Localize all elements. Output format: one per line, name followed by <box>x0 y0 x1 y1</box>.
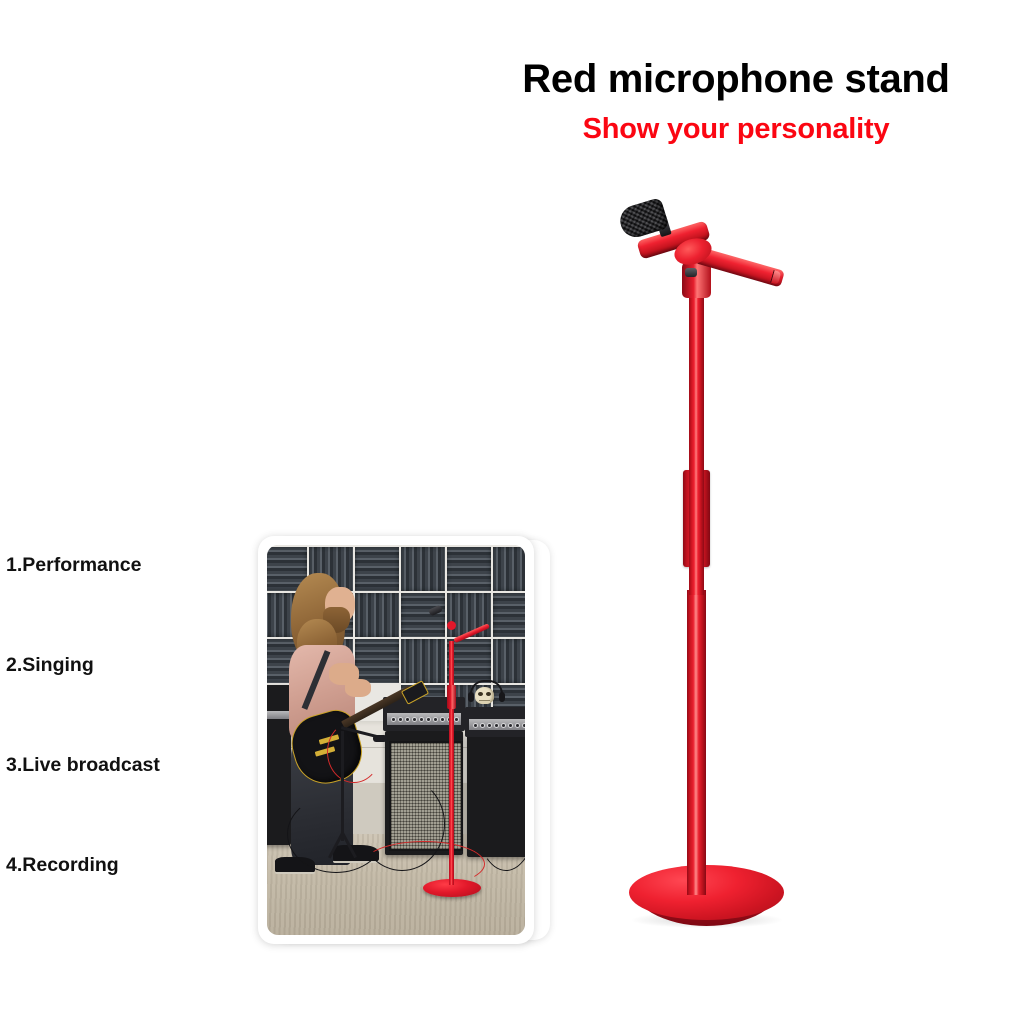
swivel-knob <box>685 268 697 277</box>
amplifier-knob <box>398 717 403 722</box>
amplifier-knob <box>501 723 506 728</box>
studio-scene <box>267 545 525 935</box>
amplifier-knob <box>454 717 459 722</box>
amplifier-knob <box>440 717 445 722</box>
amplifier-knob <box>494 723 499 728</box>
amplifier-knob <box>405 717 410 722</box>
inset-photo-card <box>258 536 534 944</box>
inset-photo-frame <box>267 545 525 935</box>
amplifier-knob <box>515 723 520 728</box>
product-marketing-image: Red microphone stand Show your personali… <box>0 0 1024 1024</box>
upper-pole <box>689 285 704 595</box>
photo-stand-clip <box>447 621 456 630</box>
acoustic-foam-panel <box>447 547 491 591</box>
heading-block: Red microphone stand Show your personali… <box>466 58 1006 144</box>
amplifier-knob <box>419 717 424 722</box>
tripod-microphone <box>373 735 387 742</box>
lower-pole <box>687 590 706 895</box>
acoustic-foam-panel <box>493 593 525 637</box>
round-base <box>629 865 784 920</box>
amplifier-knob <box>473 723 478 728</box>
page-title: Red microphone stand <box>466 58 1006 100</box>
guitarist-arm <box>345 679 371 697</box>
feature-list: 1.Performance 2.Singing 3.Live broadcast… <box>6 552 236 952</box>
red-microphone-stand <box>596 190 816 950</box>
tripod-mic-stand-pole <box>341 731 344 841</box>
photo-stand-pole <box>449 641 454 885</box>
skull-jaw <box>479 700 490 704</box>
amplifier-knob-row <box>471 722 525 728</box>
amplifier-knob <box>433 717 438 722</box>
photo-stand-collar <box>447 685 456 709</box>
acoustic-foam-panel <box>355 547 399 591</box>
skull-eye <box>478 692 483 696</box>
feature-item-recording: 4.Recording <box>6 852 236 952</box>
amplifier-knob <box>480 723 485 728</box>
acoustic-foam-panel <box>493 547 525 591</box>
amplifier-knob <box>412 717 417 722</box>
headphone-earcup <box>468 692 474 702</box>
boom-end-cap <box>770 270 781 285</box>
amplifier-knob <box>391 717 396 722</box>
acoustic-foam-panel <box>493 639 525 683</box>
amplifier-knob <box>426 717 431 722</box>
acoustic-foam-panel <box>355 639 399 683</box>
amplifier-knob <box>522 723 525 728</box>
acoustic-foam-panel <box>401 547 445 591</box>
feature-item-performance: 1.Performance <box>6 552 236 652</box>
amplifier-knob <box>508 723 513 728</box>
skull-prop <box>475 687 494 704</box>
amplifier-cabinet <box>267 685 291 845</box>
amplifier-control-panel <box>267 711 289 719</box>
page-subtitle: Show your personality <box>466 114 1006 144</box>
acoustic-foam-panel <box>401 593 445 637</box>
feature-item-live-broadcast: 3.Live broadcast <box>6 752 236 852</box>
amplifier-knob <box>487 723 492 728</box>
feature-item-singing: 2.Singing <box>6 652 236 752</box>
skull-eye <box>486 692 491 696</box>
acoustic-foam-panel <box>401 639 445 683</box>
headphone-earcup <box>499 692 505 702</box>
acoustic-foam-panel <box>355 593 399 637</box>
